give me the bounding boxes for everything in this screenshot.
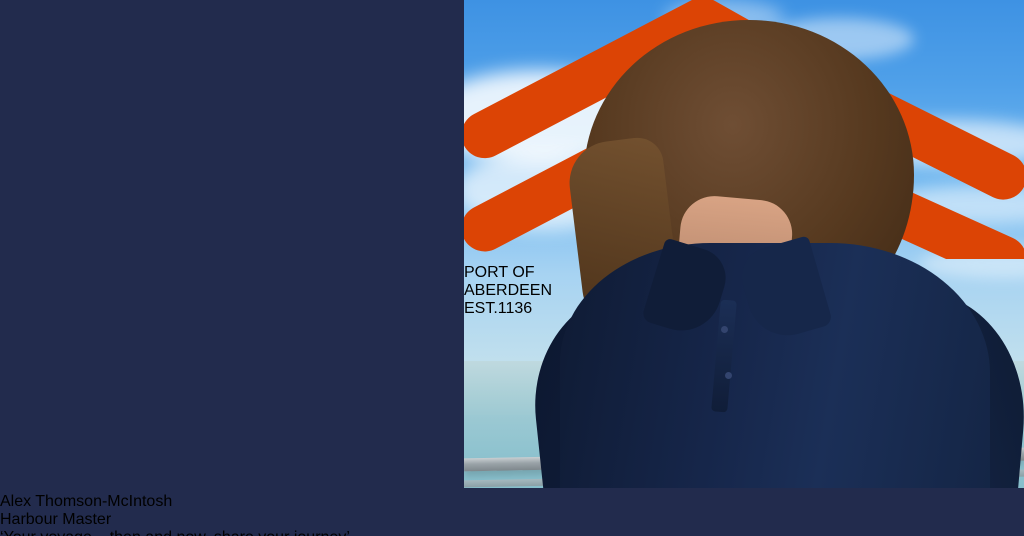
text-content: Alex Thomson-McIntosh Harbour Master ‘Yo… [0, 493, 1024, 536]
quote-line-1: ‘Your voyage – then and now, [0, 529, 209, 536]
person-role: Harbour Master [0, 511, 1024, 529]
person-figure: PORT OF ABERDEEN EST.1136 [464, 0, 1024, 488]
shirt-button [721, 326, 728, 333]
shirt-button [725, 372, 732, 379]
campaign-quote: ‘Your voyage – then and now, share your … [0, 529, 1024, 536]
photo-contents: PORT OF ABERDEEN EST.1136 [464, 0, 1024, 488]
quote-line-2: share your journey’ [214, 529, 350, 536]
portrait-photo: PORT OF ABERDEEN EST.1136 [464, 0, 1024, 488]
person-name: Alex Thomson-McIntosh [0, 493, 1024, 511]
poster-canvas: PORT OF ABERDEEN EST.1136 Alex Thomson-M… [0, 0, 1024, 536]
